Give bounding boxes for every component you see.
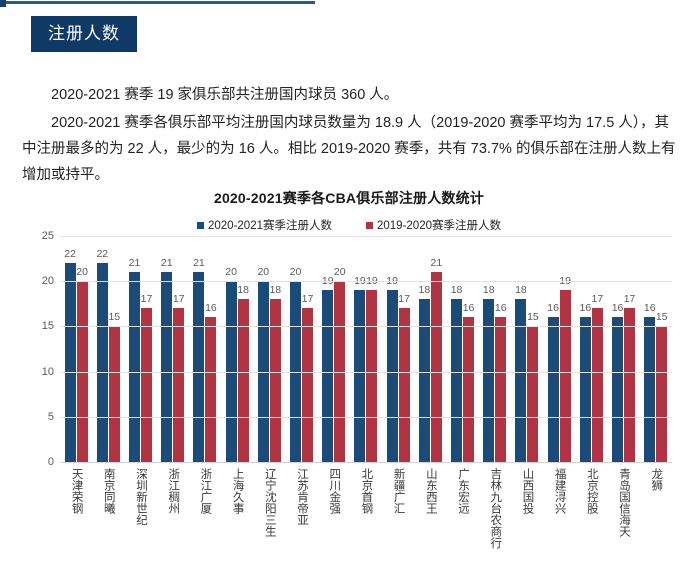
x-axis-category-label: 南京同曦 [102,468,115,566]
bar: 22 [65,263,76,462]
bar: 15 [109,326,120,462]
bar: 16 [548,317,559,462]
x-axis-category: 深圳新世纪 [124,468,156,566]
x-axis-category-label: 山东西王 [424,468,437,566]
y-axis-tick: 0 [28,456,54,468]
plot-area: 2520151050 22202215211721172116201820182… [0,236,698,566]
bar: 16 [612,317,623,462]
x-axis-category: 新疆广汇 [382,468,414,566]
x-axis-category: 广东宏远 [446,468,478,566]
bar-value-label: 22 [64,248,76,260]
bar: 21 [129,272,140,462]
bar: 15 [527,326,538,462]
x-axis-category: 天津荣钢 [60,468,92,566]
bar-group: 2220 [60,236,92,462]
bar-group: 1816 [479,236,511,462]
bar-value-label: 17 [141,293,153,305]
gridline [60,372,672,373]
x-axis-category-label: 上海久事 [231,468,244,566]
x-axis-category-label: 广东宏远 [456,468,469,566]
y-axis-tick: 5 [28,411,54,423]
plot-grid: 2220221521172117211620182018201719201919… [60,236,672,462]
gridline [60,281,672,282]
x-axis-category-label: 四川金强 [327,468,340,566]
bar-group: 2215 [92,236,124,462]
x-axis-category: 浙江广厦 [189,468,221,566]
section-badge: 注册人数 [31,16,137,52]
bar-group: 2117 [124,236,156,462]
paragraph-total: 2020-2021 赛季 19 家俱乐部共注册国内球员 360 人。 [22,82,676,108]
bar-value-label: 17 [624,293,636,305]
bar: 18 [483,299,494,462]
y-axis-tick: 10 [28,366,54,378]
bar: 19 [387,290,398,462]
x-axis-category: 江苏肯帝亚 [285,468,317,566]
bar-value-label: 16 [644,302,656,314]
bar: 21 [161,272,172,462]
registration-bar-chart: 2020-2021赛季各CBA俱乐部注册人数统计 2020-2021赛季注册人数… [0,188,698,566]
bar: 18 [238,299,249,462]
bar: 19 [560,290,571,462]
gridline [60,326,672,327]
chart-legend: 2020-2021赛季注册人数 2019-2020赛季注册人数 [0,217,698,233]
x-axis-category: 四川金强 [318,468,350,566]
y-axis-tick: 20 [28,275,54,287]
bar-value-label: 18 [237,284,249,296]
bar-value-label: 18 [269,284,281,296]
bar-value-label: 17 [302,293,314,305]
bar-value-label: 17 [592,293,604,305]
x-axis-category: 青岛国信海天 [607,468,639,566]
x-axis-category-label: 龙狮 [649,468,662,566]
accent-rule [6,1,315,4]
bar-value-label: 20 [334,266,346,278]
bar-value-label: 15 [108,311,120,323]
bar-value-label: 15 [656,311,668,323]
bar-value-label: 16 [547,302,559,314]
x-axis-category: 山西国投 [511,468,543,566]
bar-value-label: 16 [463,302,475,314]
legend-item-2019-2020: 2019-2020赛季注册人数 [366,217,501,233]
bar-group: 1615 [640,236,672,462]
bar-value-label: 20 [290,266,302,278]
bar: 16 [644,317,655,462]
bar-value-label: 22 [96,248,108,260]
x-axis: 天津荣钢南京同曦深圳新世纪浙江稠州浙江广厦上海久事辽宁沈阳三生江苏肯帝亚四川金强… [60,468,672,566]
article-body: 2020-2021 赛季 19 家俱乐部共注册国内球员 360 人。 2020-… [22,82,676,190]
legend-label-2020-2021: 2020-2021赛季注册人数 [208,217,332,233]
y-axis: 2520151050 [28,236,54,462]
y-axis-tick: 15 [28,320,54,332]
bar-group: 1920 [318,236,350,462]
gridline [60,236,672,237]
legend-item-2020-2021: 2020-2021赛季注册人数 [197,217,332,233]
bar-value-label: 17 [173,293,185,305]
bar: 18 [515,299,526,462]
x-axis-category-label: 辽宁沈阳三生 [263,468,276,566]
bar: 19 [366,290,377,462]
bar: 17 [592,308,603,462]
bar-value-label: 18 [515,284,527,296]
x-axis-category-label: 青岛国信海天 [617,468,630,566]
x-axis-category-label: 浙江广厦 [198,468,211,566]
bar-value-label: 21 [129,257,141,269]
chart-title: 2020-2021赛季各CBA俱乐部注册人数统计 [0,188,698,208]
x-axis-category-label: 吉林九台农商行 [488,468,501,566]
bar-value-label: 20 [76,266,88,278]
gridline [60,417,672,418]
x-axis-category-label: 北京首钢 [359,468,372,566]
bar-value-label: 16 [495,302,507,314]
bar-value-label: 16 [612,302,624,314]
bar-group: 2116 [189,236,221,462]
bar-value-label: 21 [430,257,442,269]
legend-swatch-blue [197,222,204,229]
x-axis-category: 上海久事 [221,468,253,566]
x-axis-category-label: 北京控股 [585,468,598,566]
bar: 19 [322,290,333,462]
bar: 19 [354,290,365,462]
bar-value-label: 21 [193,257,205,269]
bar-groups: 2220221521172117211620182018201719201919… [60,236,672,462]
bar-group: 2117 [157,236,189,462]
bar-value-label: 18 [418,284,430,296]
bar-value-label: 15 [527,311,539,323]
x-axis-category: 山东西王 [414,468,446,566]
bar: 16 [495,317,506,462]
x-axis-category-label: 浙江稠州 [166,468,179,566]
bar-group: 2018 [221,236,253,462]
bar: 18 [419,299,430,462]
x-axis-category: 北京首钢 [350,468,382,566]
bar-value-label: 16 [205,302,217,314]
legend-label-2019-2020: 2019-2020赛季注册人数 [377,217,501,233]
bar-group: 1617 [575,236,607,462]
bar-value-label: 18 [483,284,495,296]
bar-value-label: 18 [451,284,463,296]
bar-group: 1919 [350,236,382,462]
bar-group: 1619 [543,236,575,462]
bar: 16 [205,317,216,462]
bar-group: 1821 [414,236,446,462]
bar: 17 [302,308,313,462]
x-axis-category-label: 江苏肯帝亚 [295,468,308,566]
x-axis-category: 龙狮 [640,468,672,566]
bar: 15 [656,326,667,462]
bar-group: 2018 [253,236,285,462]
bar: 17 [173,308,184,462]
bar-value-label: 17 [398,293,410,305]
x-axis-category-label: 福建浔兴 [553,468,566,566]
bar-value-label: 20 [225,266,237,278]
bar-group: 1815 [511,236,543,462]
bar: 16 [580,317,591,462]
bar: 18 [451,299,462,462]
bar-value-label: 20 [257,266,269,278]
legend-swatch-red [366,222,373,229]
bar-group: 1816 [446,236,478,462]
bar-group: 1917 [382,236,414,462]
x-axis-category: 辽宁沈阳三生 [253,468,285,566]
bar: 22 [97,263,108,462]
bar: 16 [463,317,474,462]
x-axis-category: 福建浔兴 [543,468,575,566]
x-axis-category-label: 深圳新世纪 [134,468,147,566]
bar: 17 [624,308,635,462]
bar: 17 [141,308,152,462]
y-axis-tick: 25 [28,230,54,242]
x-axis-category: 南京同曦 [92,468,124,566]
bar-group: 2017 [285,236,317,462]
x-axis-category: 吉林九台农商行 [479,468,511,566]
bar-group: 1617 [607,236,639,462]
x-axis-category: 浙江稠州 [157,468,189,566]
x-axis-category-label: 山西国投 [520,468,533,566]
bar: 21 [431,272,442,462]
gridline [60,462,672,463]
x-axis-category-label: 天津荣钢 [70,468,83,566]
paragraph-average: 2020-2021 赛季各俱乐部平均注册国内球员数量为 18.9 人（2019-… [22,110,676,188]
bar: 21 [193,272,204,462]
x-axis-category: 北京控股 [575,468,607,566]
top-accent-strip [0,0,315,7]
bar: 17 [399,308,410,462]
bar-value-label: 16 [580,302,592,314]
bar: 18 [270,299,281,462]
x-axis-category-label: 新疆广汇 [392,468,405,566]
bar-value-label: 21 [161,257,173,269]
